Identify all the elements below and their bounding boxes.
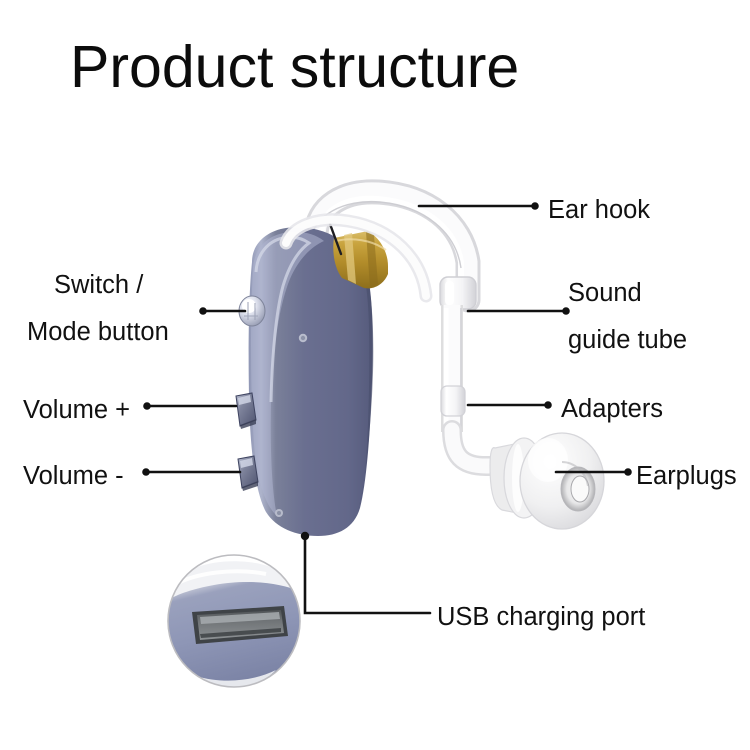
volume-down-button[interactable] (238, 456, 258, 491)
earplug-part (490, 433, 604, 529)
label-earplugs: Earplugs (636, 453, 737, 499)
label-adapters: Adapters (561, 386, 663, 432)
label-switch-mode-line1: Switch / (54, 262, 143, 309)
leader-adapters (468, 401, 552, 409)
label-volume-down: Volume - (23, 453, 124, 499)
sound-guide-tube (440, 277, 508, 466)
leader-sound-guide-tube (468, 307, 570, 315)
label-volume-up: Volume + (23, 387, 130, 433)
leader-switch-mode (199, 307, 245, 315)
label-usb-charging-port: USB charging port (437, 594, 645, 640)
label-sound-guide-tube-line2: guide tube (568, 317, 687, 364)
label-ear-hook: Ear hook (548, 187, 650, 233)
label-switch-mode-line2: Mode button (27, 309, 169, 356)
leader-usb-charging-port (301, 532, 430, 613)
usb-detail-inset (155, 555, 311, 690)
volume-up-button[interactable] (236, 393, 256, 429)
adapter-collar-lower (441, 386, 465, 416)
product-structure-diagram: Product structure (0, 0, 750, 750)
label-sound-guide-tube-line1: Sound (568, 270, 642, 317)
leader-volume-up (143, 402, 236, 410)
leader-volume-down (142, 468, 240, 476)
